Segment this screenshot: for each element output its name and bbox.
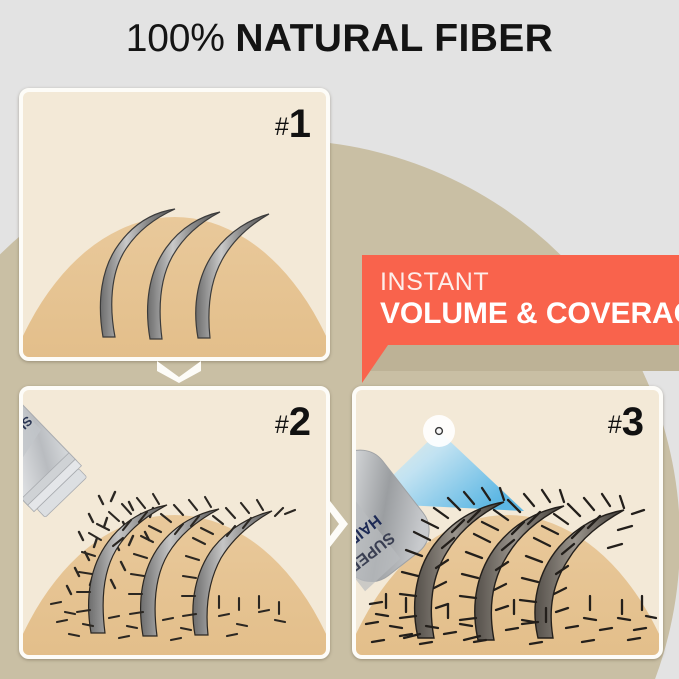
- page-title: 100% NATURAL FIBER: [0, 16, 679, 62]
- headline-percent: 100%: [126, 17, 225, 60]
- headline-emphasis: NATURAL FIBER: [235, 17, 553, 60]
- infographic-canvas: 100% NATURAL FIBER #1: [0, 0, 679, 679]
- banner-ampersand: &: [516, 297, 538, 330]
- step-panel-1: #1: [19, 88, 330, 361]
- banner-line-1: INSTANT: [380, 268, 679, 297]
- step-number: 3: [622, 400, 643, 444]
- hair-strand-3: [196, 214, 269, 338]
- step-panel-2: SUPER MILLION HAIR: [19, 386, 330, 659]
- hash-symbol: #: [275, 411, 289, 439]
- hash-symbol: #: [608, 411, 622, 439]
- step-panel-3: SUPER HAIR: [352, 386, 663, 659]
- nozzle-tip: [436, 428, 443, 435]
- hash-symbol: #: [275, 113, 289, 141]
- step-number-badge-2: #2: [275, 402, 310, 442]
- banner-coverage: COVERAGE: [546, 297, 679, 330]
- step-number: 1: [289, 102, 310, 146]
- step-number: 2: [289, 400, 310, 444]
- banner-volume: VOLUME: [380, 297, 508, 330]
- promo-banner: INSTANT VOLUME & COVERAGE: [362, 255, 679, 345]
- banner-line-2: VOLUME & COVERAGE: [380, 297, 679, 331]
- step-number-badge-3: #3: [608, 402, 643, 442]
- banner-shadow: [366, 343, 679, 371]
- chevron-down-icon: [153, 356, 205, 384]
- fiber-shaker-bottle: SUPER MILLION HAIR: [23, 390, 90, 520]
- step-number-badge-1: #1: [275, 104, 310, 144]
- chevron-right-icon: [326, 498, 352, 550]
